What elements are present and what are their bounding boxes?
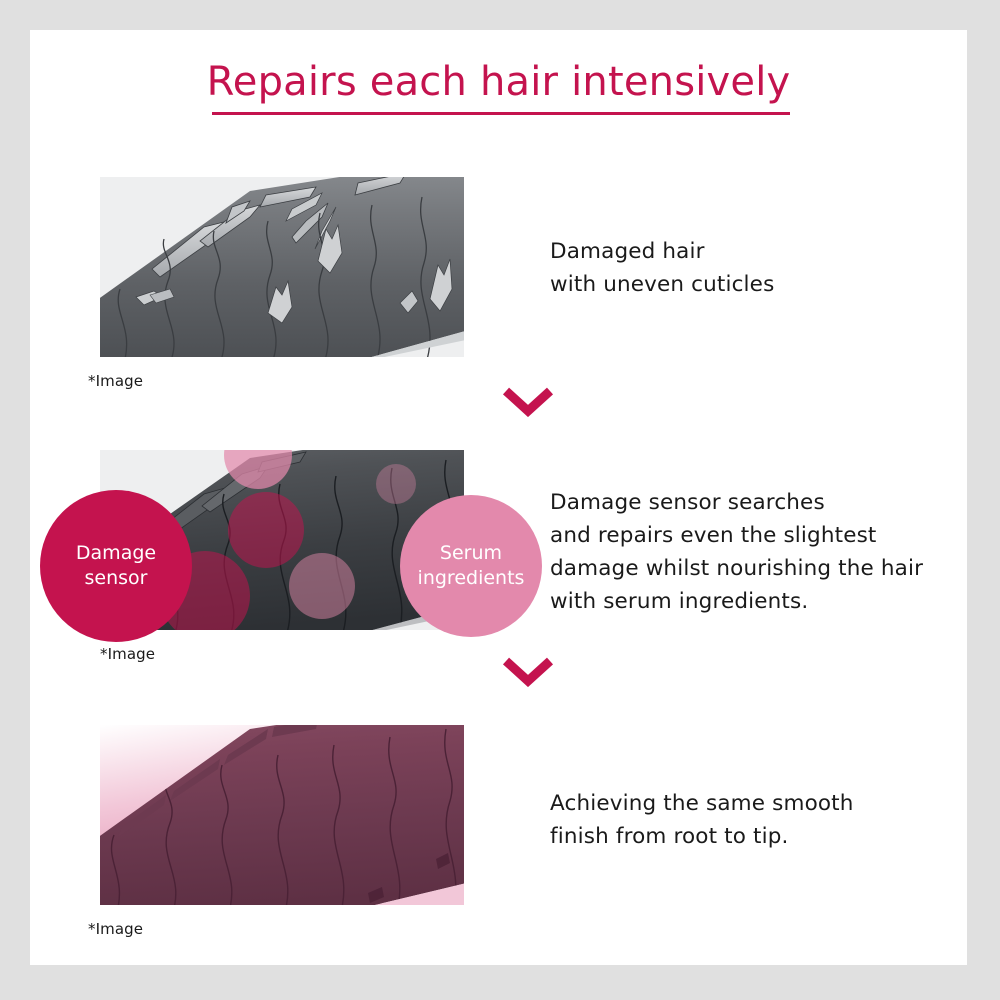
chevron-down-icon-2	[500, 655, 556, 687]
repaired-hair-illustration	[100, 725, 464, 905]
serum-dot	[376, 464, 416, 504]
image-caption: *Image	[100, 645, 155, 663]
damaged-hair-illustration	[100, 177, 464, 357]
image-caption: *Image	[88, 920, 143, 938]
sensor-dot	[228, 492, 304, 568]
chevron-down-icon-1	[500, 385, 556, 417]
title-block: Repairs each hair intensively	[30, 60, 967, 104]
badge-serum-ingredients: Serum ingredients	[400, 495, 542, 637]
illustration-panel-repaired-hair	[100, 725, 464, 905]
image-caption: *Image	[88, 372, 143, 390]
step-description-damage-sensor: Damage sensor searches and repairs even …	[550, 486, 923, 618]
badge-damage-sensor: Damage sensor	[40, 490, 192, 642]
illustration-panel-damaged-hair	[100, 177, 464, 357]
serum-dot	[289, 553, 355, 619]
step-description-damaged-hair: Damaged hair with uneven cuticles	[550, 235, 774, 301]
title-underline	[212, 112, 790, 115]
infographic-page: Repairs each hair intensively	[30, 30, 967, 965]
page-title: Repairs each hair intensively	[30, 60, 967, 104]
step-description-repaired-hair: Achieving the same smooth finish from ro…	[550, 787, 854, 853]
